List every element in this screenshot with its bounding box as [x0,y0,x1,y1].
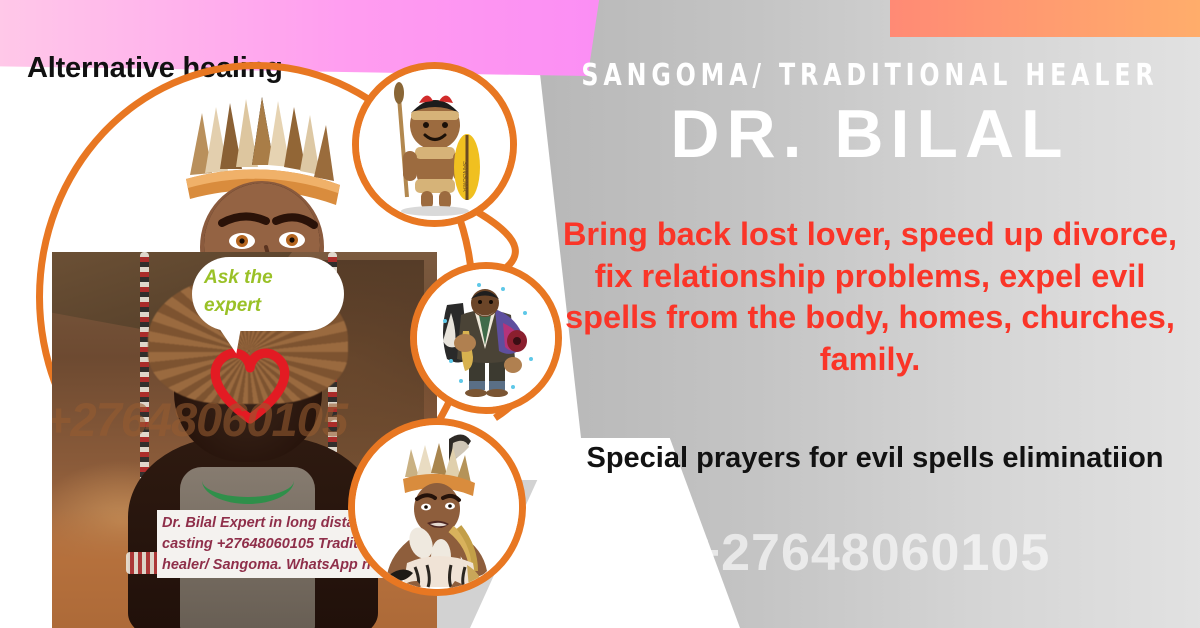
svg-text:SANGOMA: SANGOMA [461,161,467,192]
services-pitch: Bring back lost lover, speed up divorce,… [560,214,1180,380]
watermark-phone-number: +27648060105 [540,523,1200,583]
sangoma-dancer-icon [355,425,519,589]
traditional-healer-icon [417,269,555,407]
circle-zulu-warrior: SANGOMA [352,62,517,227]
speech-bubble-label: Ask the expert [204,264,334,319]
special-prayers-text: Special prayers for evil spells eliminat… [580,440,1170,478]
kicker-text: SANGOMA/ TRADITIONAL HEALER [580,58,1161,93]
right-text-column: SANGOMA/ TRADITIONAL HEALER DR. BILAL Br… [540,0,1200,628]
circle-sangoma-dancer [348,418,526,596]
zulu-warrior-icon: SANGOMA [359,69,510,220]
brand-name: DR. BILAL [540,100,1200,168]
photo-caption-line-3: healer/ Sangoma. WhatsApp n [162,555,394,576]
green-necklace [202,457,294,504]
poster-canvas: Alternative healing [0,0,1200,628]
